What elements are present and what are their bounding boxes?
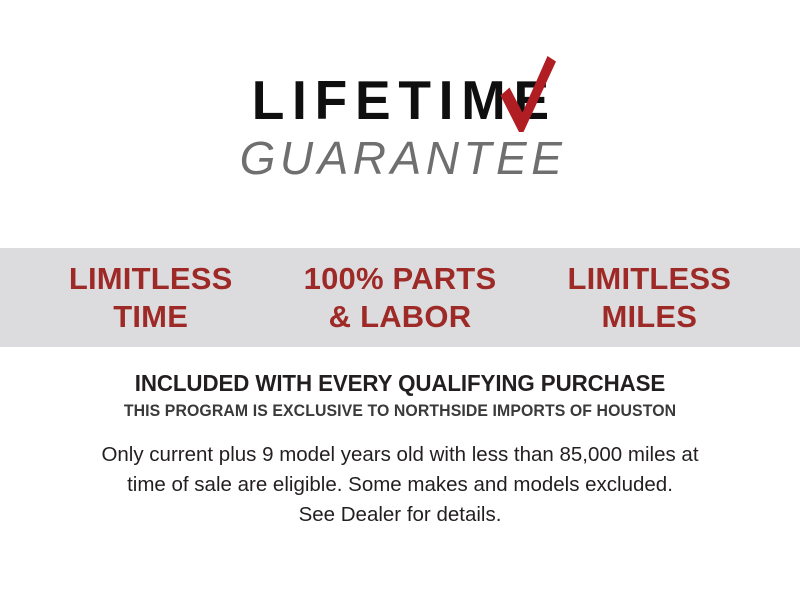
benefit-line-2: & LABOR bbox=[275, 298, 524, 336]
disclaimer-line: See Dealer for details. bbox=[0, 500, 800, 530]
benefits-band: LIMITLESS TIME 100% PARTS & LABOR LIMITL… bbox=[0, 248, 800, 347]
logo-block: LIFETIME GUARANTEE bbox=[0, 72, 800, 182]
disclaimer-line: time of sale are eligible. Some makes an… bbox=[0, 470, 800, 500]
benefit-line-1: LIMITLESS bbox=[567, 261, 731, 296]
logo-guarantee-text: GUARANTEE bbox=[234, 134, 567, 182]
benefit-line-2: TIME bbox=[26, 298, 275, 336]
benefit-line-1: LIMITLESS bbox=[69, 261, 233, 296]
benefit-line-1: 100% PARTS bbox=[304, 261, 497, 296]
info-block: INCLUDED WITH EVERY QUALIFYING PURCHASE … bbox=[0, 370, 800, 530]
headline: INCLUDED WITH EVERY QUALIFYING PURCHASE bbox=[12, 370, 788, 397]
disclaimer: Only current plus 9 model years old with… bbox=[0, 440, 800, 530]
benefit-line-2: MILES bbox=[525, 298, 774, 336]
benefit-column-limitless-miles: LIMITLESS MILES bbox=[525, 260, 774, 336]
lifetime-guarantee-flyer: LIFETIME GUARANTEE LIMITLESS TIME 100% P… bbox=[0, 0, 800, 600]
benefit-column-limitless-time: LIMITLESS TIME bbox=[26, 260, 275, 336]
subheadline: THIS PROGRAM IS EXCLUSIVE TO NORTHSIDE I… bbox=[16, 402, 784, 422]
logo-wordmark: LIFETIME GUARANTEE bbox=[234, 72, 567, 182]
disclaimer-line: Only current plus 9 model years old with… bbox=[0, 440, 800, 470]
benefit-column-parts-labor: 100% PARTS & LABOR bbox=[275, 260, 524, 336]
logo-lifetime-text: LIFETIME bbox=[239, 72, 562, 128]
